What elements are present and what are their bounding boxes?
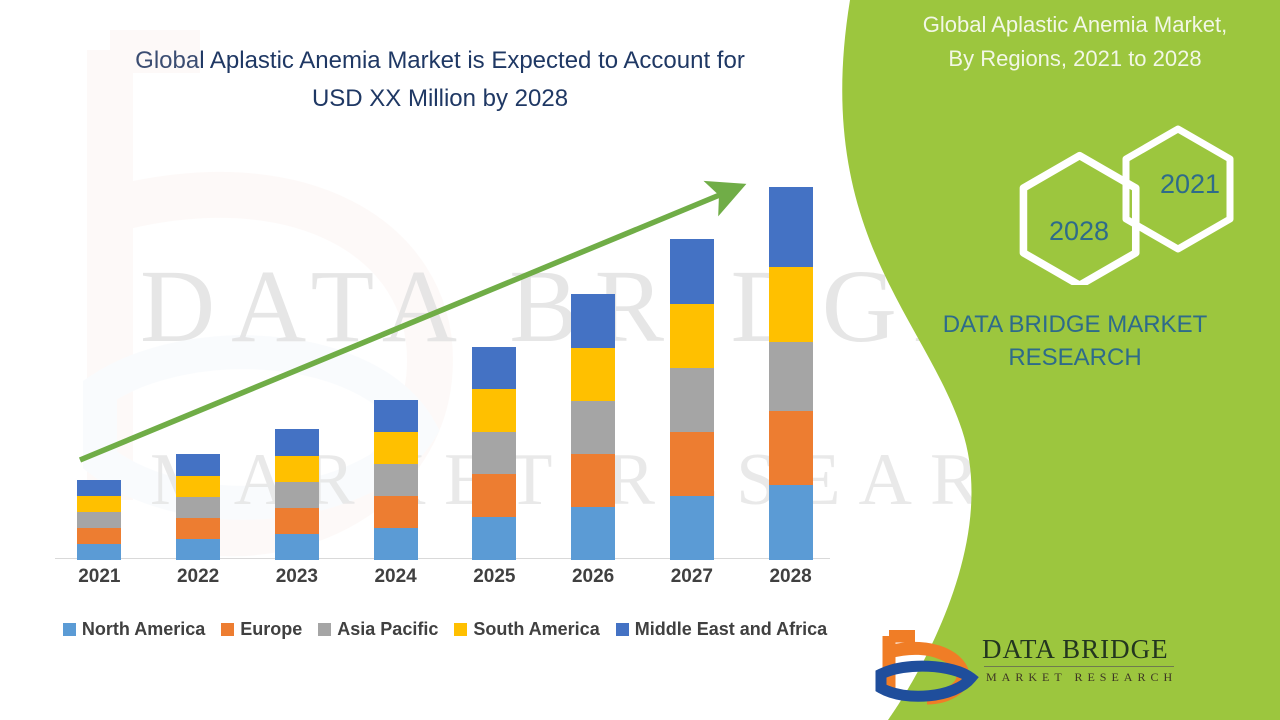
legend-swatch-icon [63,623,76,636]
panel-content: Global Aplastic Anemia Market, By Region… [860,0,1280,720]
panel-title-line2: By Regions, 2021 to 2028 [880,42,1270,76]
bar-segment [670,368,714,432]
bar-segment [176,539,220,560]
bar-segment [275,508,319,534]
bar-segment [571,454,615,507]
bar-segment [472,432,516,474]
logo-main-text: DATA BRIDGE [982,634,1169,665]
bar-segment [670,432,714,496]
bar-segment [670,239,714,304]
legend-item[interactable]: Europe [221,619,302,640]
bar-segment [77,544,121,560]
bar-2025 [472,347,516,560]
legend-item[interactable]: Asia Pacific [318,619,438,640]
bar-segment [472,474,516,517]
logo-sub-text: MARKET RESEARCH [986,670,1177,685]
legend-swatch-icon [616,623,629,636]
panel-title-line1: Global Aplastic Anemia Market, [880,8,1270,42]
bar-segment [472,389,516,432]
bar-segment [77,512,121,528]
bar-segment [374,432,418,464]
bar-segment [77,496,121,512]
bar-segment [374,496,418,528]
bar-segment [275,456,319,482]
x-axis-label-2024: 2024 [356,566,436,588]
page-title-line1: Global Aplastic Anemia Market is Expecte… [40,42,840,80]
bar-segment [374,528,418,560]
legend-label: Europe [240,619,302,640]
bar-segment [374,464,418,496]
x-axis-label-2028: 2028 [751,566,831,588]
x-axis-label-2025: 2025 [454,566,534,588]
x-axis-label-2022: 2022 [158,566,238,588]
bar-segment [275,534,319,560]
bar-segment [374,400,418,432]
page-title-line2: USD XX Million by 2028 [40,80,840,118]
bar-segment [670,304,714,368]
brand-name-line1: DATA BRIDGE MARKET [900,308,1250,341]
bar-segment [176,518,220,539]
legend-label: Middle East and Africa [635,619,827,640]
legend-swatch-icon [221,623,234,636]
brand-name: DATA BRIDGE MARKET RESEARCH [900,308,1250,374]
bar-segment [571,401,615,454]
bar-2026 [571,294,615,560]
brand-name-line2: RESEARCH [900,341,1250,374]
bar-2023 [275,429,319,560]
bar-segment [472,517,516,560]
bar-segment [275,429,319,456]
bar-segment [176,497,220,518]
bar-segment [176,476,220,497]
bar-2022 [176,454,220,560]
bar-chart-plot-area [50,150,840,560]
bar-segment [571,294,615,348]
legend-item[interactable]: South America [454,619,599,640]
bar-segment [769,267,813,342]
bar-segment [571,507,615,560]
bar-segment [472,347,516,389]
bar-segment [275,482,319,508]
logo-divider [984,666,1174,667]
bar-2021 [77,480,121,560]
panel-title: Global Aplastic Anemia Market, By Region… [880,8,1270,76]
legend-label: North America [82,619,205,640]
bar-segment [769,485,813,560]
legend-label: South America [473,619,599,640]
bar-segment [77,480,121,496]
x-axis-label-2026: 2026 [553,566,633,588]
bar-segment [571,348,615,401]
bar-2027 [670,239,714,560]
x-axis-label-2023: 2023 [257,566,337,588]
legend-item[interactable]: North America [63,619,205,640]
hexagon-2028-label: 2028 [1049,216,1109,246]
legend-swatch-icon [318,623,331,636]
bar-segment [769,187,813,267]
legend-item[interactable]: Middle East and Africa [616,619,827,640]
hexagon-svg: 2021 2028 [960,125,1260,285]
bar-2028 [769,187,813,560]
databridge-b-logo-icon [875,630,980,706]
hexagon-group: 2021 2028 [960,125,1260,285]
bar-segment [769,411,813,485]
bar-2024 [374,400,418,560]
bar-segment [670,496,714,560]
x-axis-label-2027: 2027 [652,566,732,588]
chart-legend: North AmericaEuropeAsia PacificSouth Ame… [50,615,840,643]
bar-segment [77,528,121,544]
slide-canvas: DATA BRIDGE MARKET RESEARCH Global Aplas… [0,0,1280,720]
x-axis-labels: 20212022202320242025202620272028 [50,566,840,596]
hexagon-2021-label: 2021 [1160,169,1220,199]
bar-segment [769,342,813,411]
page-title: Global Aplastic Anemia Market is Expecte… [40,42,840,118]
databridge-logo: DATA BRIDGE MARKET RESEARCH [870,628,1270,708]
legend-label: Asia Pacific [337,619,438,640]
legend-swatch-icon [454,623,467,636]
bar-segment [176,454,220,476]
x-axis-label-2021: 2021 [59,566,139,588]
